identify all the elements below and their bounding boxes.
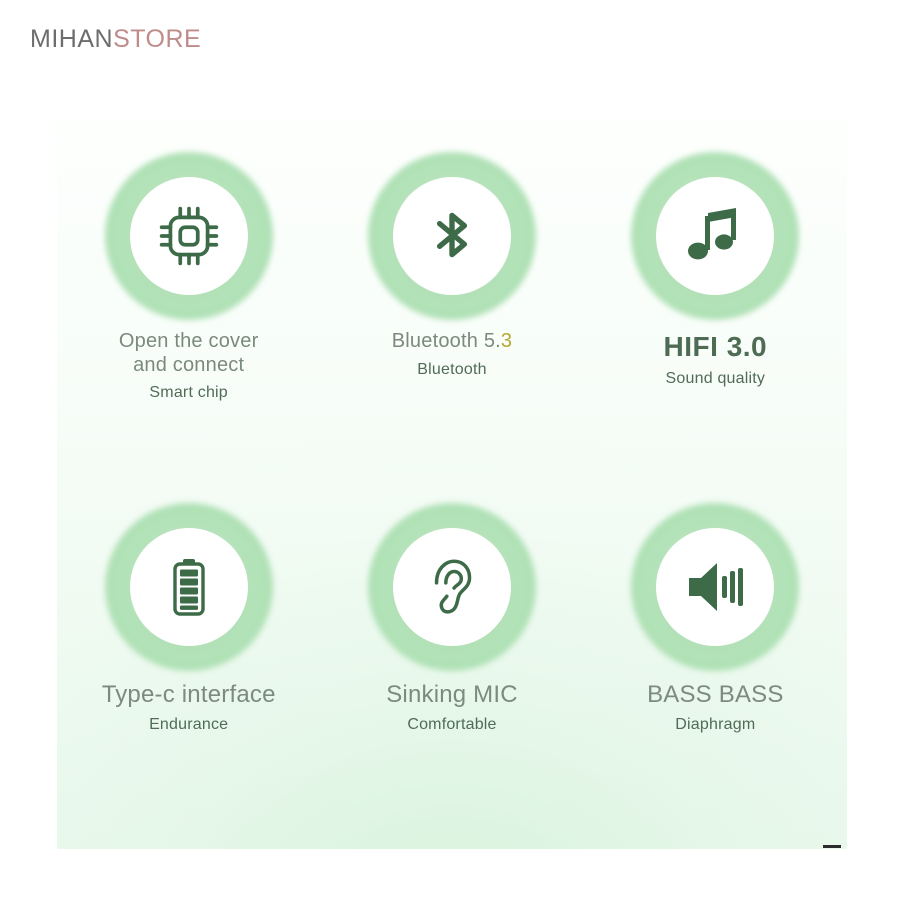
- brand-name-secondary: STORE: [113, 25, 201, 53]
- feature-subtitle: Diaphragm: [647, 716, 784, 735]
- feature-panel: Open the cover and connect Smart chip Bl…: [57, 120, 847, 849]
- feature-caption: Open the cover and connect Smart chip: [119, 330, 259, 403]
- badge-inner: [130, 528, 248, 646]
- feature-badge: [627, 148, 803, 324]
- feature-subtitle: Endurance: [102, 716, 276, 735]
- badge-inner: [393, 177, 511, 295]
- ear-icon: [419, 554, 485, 620]
- feature-card-type-c[interactable]: Type-c interface Endurance: [57, 499, 320, 850]
- bluetooth-icon: [419, 203, 485, 269]
- feature-caption: Sinking MIC Comfortable: [386, 681, 518, 735]
- feature-caption: Bluetooth 5.3 Bluetooth: [392, 330, 512, 379]
- feature-subtitle: Bluetooth: [392, 361, 512, 380]
- speaker-icon: [683, 555, 747, 619]
- feature-card-sinking-mic[interactable]: Sinking MIC Comfortable: [320, 499, 583, 850]
- feature-card-smart-chip[interactable]: Open the cover and connect Smart chip: [57, 148, 320, 499]
- feature-caption: HIFI 3.0 Sound quality: [664, 330, 768, 389]
- feature-title: Sinking MIC: [386, 681, 518, 709]
- music-note-icon: [683, 204, 747, 268]
- feature-card-hifi[interactable]: HIFI 3.0 Sound quality: [584, 148, 847, 499]
- badge-inner: [656, 528, 774, 646]
- feature-caption: BASS BASS Diaphragm: [647, 681, 784, 735]
- feature-title: Open the cover and connect: [119, 330, 259, 377]
- chip-icon: [154, 201, 224, 271]
- feature-badge: [364, 499, 540, 675]
- badge-inner: [656, 177, 774, 295]
- badge-inner: [130, 177, 248, 295]
- battery-icon: [157, 555, 221, 619]
- feature-title-accent: 3: [501, 330, 512, 352]
- badge-inner: [393, 528, 511, 646]
- feature-subtitle: Smart chip: [119, 384, 259, 403]
- feature-title: BASS BASS: [647, 681, 784, 709]
- feature-subtitle: Comfortable: [386, 716, 518, 735]
- brand-name-primary: MIHAN: [30, 25, 113, 53]
- feature-badge: [101, 499, 277, 675]
- feature-title: Type-c interface: [102, 681, 276, 709]
- feature-subtitle: Sound quality: [664, 370, 768, 389]
- feature-title: Bluetooth 5.3: [392, 330, 512, 354]
- feature-caption: Type-c interface Endurance: [102, 681, 276, 735]
- feature-title-main: Bluetooth 5.: [392, 330, 501, 352]
- feature-grid: Open the cover and connect Smart chip Bl…: [57, 120, 847, 849]
- feature-card-bass[interactable]: BASS BASS Diaphragm: [584, 499, 847, 850]
- feature-title: HIFI 3.0: [664, 330, 768, 363]
- feature-badge: [101, 148, 277, 324]
- brand-logo: MIHANSTORE: [30, 25, 201, 54]
- feature-badge: [364, 148, 540, 324]
- feature-badge: [627, 499, 803, 675]
- feature-card-bluetooth[interactable]: Bluetooth 5.3 Bluetooth: [320, 148, 583, 499]
